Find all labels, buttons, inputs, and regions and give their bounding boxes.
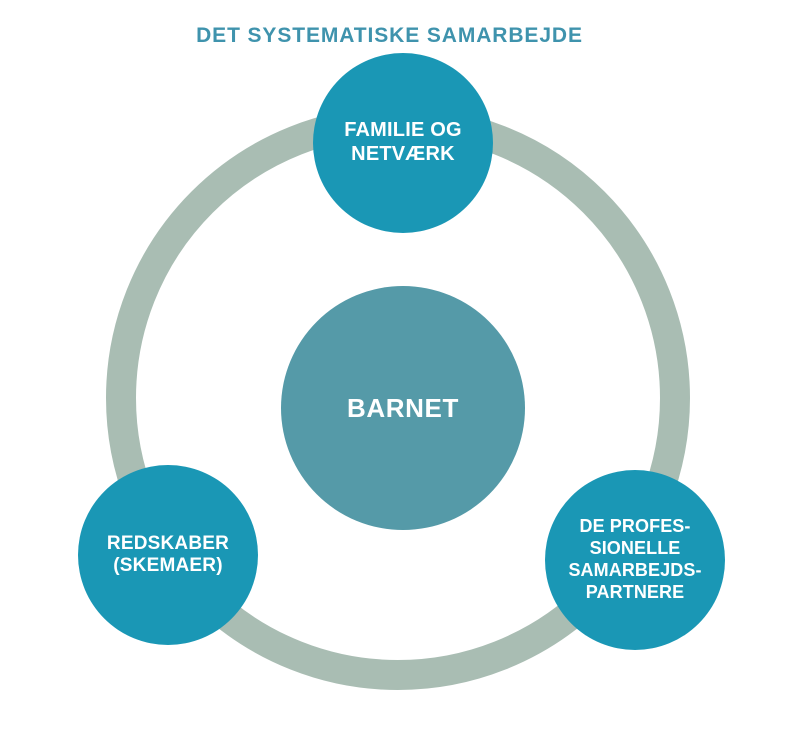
node-de-professionelle-samarbejdspartnere-label: DE PROFES- SIONELLE SAMARBEJDS- PARTNERE [562,516,707,604]
node-barnet-label: BARNET [341,393,465,424]
node-barnet[interactable]: BARNET [281,286,525,530]
diagram-canvas: DET SYSTEMATISKE SAMARBEJDE BARNET FAMIL… [0,0,799,737]
node-redskaber-skemaer-label: REDSKABER (SKEMAER) [101,533,235,578]
node-familie-og-netvaerk-label: FAMILIE OG NETVÆRK [338,119,468,166]
node-familie-og-netvaerk[interactable]: FAMILIE OG NETVÆRK [313,53,493,233]
node-redskaber-skemaer[interactable]: REDSKABER (SKEMAER) [78,465,258,645]
node-de-professionelle-samarbejdspartnere[interactable]: DE PROFES- SIONELLE SAMARBEJDS- PARTNERE [545,470,725,650]
